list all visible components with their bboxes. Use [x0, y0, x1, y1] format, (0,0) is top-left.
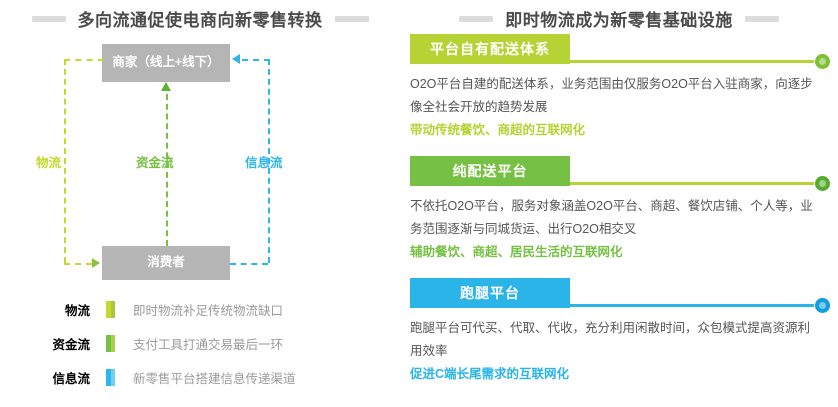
card-body: 不依托O2O平台，服务对象涵盖O2O平台、商超、餐饮店铺、个人等，业务范围逐渐与…: [400, 186, 838, 264]
node-merchant: 商家（线上+线下）: [102, 44, 230, 82]
legend-desc-logistics: 即时物流补足传统物流缺口: [133, 300, 283, 319]
page-root: 多向流通促使电商向新零售转换 商家（线上+线下） 消费者 物流 资金流 信息流: [0, 0, 838, 407]
info-path-top: [242, 59, 270, 61]
capital-arrow-icon: [161, 82, 171, 91]
left-panel: 多向流通促使电商向新零售转换 商家（线上+线下） 消费者 物流 资金流 信息流: [0, 0, 400, 407]
card-divider: [570, 60, 814, 63]
legend-row-capital: 资金流 支付工具打通交易最后一环: [0, 326, 400, 360]
card-body: 跑腿平台可代买、代取、代收，充分利用闲散时间，众包模式提高资源利用效率 促进C端…: [400, 308, 838, 386]
info-arrow-icon: [232, 54, 240, 64]
card-header: 纯配送平台: [400, 156, 838, 186]
right-panel: 即时物流成为新零售基础设施 平台自有配送体系 O2O平台自建的配送体系，业务范围…: [400, 0, 838, 407]
legend-bar-icon: [106, 301, 115, 318]
logistics-path-top: [64, 59, 104, 61]
card-highlight: 辅助餐饮、商超、居民生活的互联网化: [410, 241, 818, 264]
card-description: O2O平台自建的配送体系，业务范围由仅服务O2O平台入驻商家，向逐步像全社会开放…: [410, 73, 818, 119]
right-heading-text: 即时物流成为新零售基础设施: [505, 6, 733, 31]
card-header: 平台自有配送体系: [400, 34, 838, 64]
legend-name-capital: 资金流: [30, 334, 90, 353]
legend-desc-capital: 支付工具打通交易最后一环: [133, 334, 283, 353]
card-dot-icon: [815, 176, 830, 191]
card-divider: [570, 304, 814, 307]
card-dot-icon: [815, 54, 830, 69]
logistics-path-bottom: [64, 263, 92, 265]
left-heading-text: 多向流通促使电商向新零售转换: [78, 6, 323, 31]
card-errand-platform: 跑腿平台 跑腿平台可代买、代取、代收，充分利用闲散时间，众包模式提高资源利用效率…: [400, 278, 838, 400]
legend-name-information: 信息流: [30, 368, 90, 387]
flow-diagram: 商家（线上+线下） 消费者 物流 资金流 信息流: [0, 34, 400, 289]
card-highlight: 促进C端长尾需求的互联网化: [410, 363, 818, 386]
node-consumer: 消费者: [102, 246, 230, 280]
card-description: 不依托O2O平台，服务对象涵盖O2O平台、商超、餐饮店铺、个人等，业务范围逐渐与…: [410, 195, 818, 241]
card-body: O2O平台自建的配送体系，业务范围由仅服务O2O平台入驻商家，向逐步像全社会开放…: [400, 64, 838, 142]
flow-label-capital: 资金流: [136, 152, 174, 171]
card-platform-own-delivery: 平台自有配送体系 O2O平台自建的配送体系，业务范围由仅服务O2O平台入驻商家，…: [400, 34, 838, 156]
right-section-heading: 即时物流成为新零售基础设施: [400, 6, 838, 31]
info-path-bottom: [230, 263, 268, 265]
card-header: 跑腿平台: [400, 278, 838, 308]
flow-label-information: 信息流: [245, 152, 283, 171]
left-section-heading: 多向流通促使电商向新零售转换: [0, 6, 400, 31]
heading-rule-right-icon: [745, 16, 779, 22]
card-list: 平台自有配送体系 O2O平台自建的配送体系，业务范围由仅服务O2O平台入驻商家，…: [400, 34, 838, 400]
legend-name-logistics: 物流: [30, 300, 90, 319]
logistics-arrow-icon: [92, 258, 100, 268]
legend-row-information: 信息流 新零售平台搭建信息传递渠道: [0, 360, 400, 394]
card-tag: 纯配送平台: [410, 156, 570, 186]
card-dot-icon: [815, 298, 830, 313]
logistics-path-vertical: [64, 59, 66, 263]
legend-desc-information: 新零售平台搭建信息传递渠道: [133, 368, 296, 387]
card-tag: 跑腿平台: [410, 278, 570, 308]
flow-legend: 物流 即时物流补足传统物流缺口 资金流 支付工具打通交易最后一环 信息流 新零售…: [0, 292, 400, 394]
heading-rule-right-icon: [335, 16, 369, 22]
heading-rule-left-icon: [459, 16, 493, 22]
card-divider: [570, 182, 814, 185]
card-highlight: 带动传统餐饮、商超的互联网化: [410, 119, 818, 142]
legend-row-logistics: 物流 即时物流补足传统物流缺口: [0, 292, 400, 326]
card-pure-delivery-platform: 纯配送平台 不依托O2O平台，服务对象涵盖O2O平台、商超、餐饮店铺、个人等，业…: [400, 156, 838, 278]
legend-bar-icon: [106, 369, 115, 386]
legend-bar-icon: [106, 335, 115, 352]
heading-rule-left-icon: [32, 16, 66, 22]
card-tag: 平台自有配送体系: [410, 34, 570, 64]
flow-label-logistics: 物流: [36, 152, 61, 171]
card-description: 跑腿平台可代买、代取、代收，充分利用闲散时间，众包模式提高资源利用效率: [410, 317, 818, 363]
